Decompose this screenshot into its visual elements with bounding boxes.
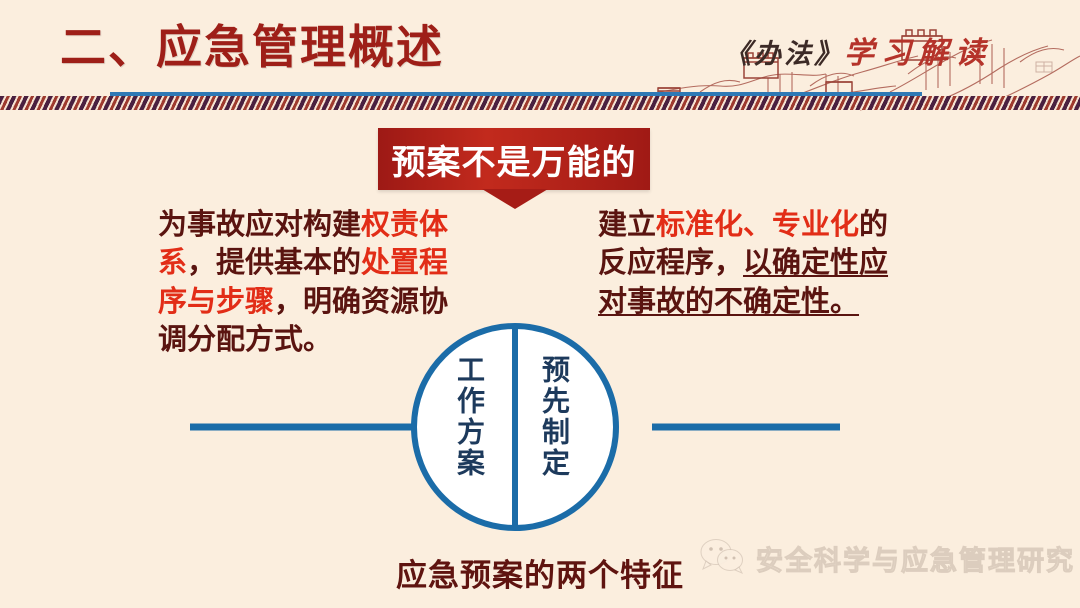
slide-canvas: 二、应急管理概述 bbox=[0, 0, 1080, 608]
page-title: 二、应急管理概述 bbox=[60, 22, 444, 73]
header-calligraphy: 《办法》学习解读 bbox=[724, 28, 992, 72]
watermark: 安全科学与应急管理研究 bbox=[700, 538, 1075, 579]
text-segment: ，提供基本的 bbox=[187, 247, 361, 279]
headline-banner: 预案不是万能的 bbox=[378, 128, 650, 190]
wechat-icon bbox=[700, 538, 744, 579]
watermark-text: 安全科学与应急管理研究 bbox=[756, 539, 1075, 578]
diagram-left-label: 工作方案 bbox=[455, 355, 483, 479]
header-calligraphy-prefix: 《办法》 bbox=[724, 39, 844, 69]
header-hatched-divider bbox=[0, 96, 1080, 110]
text-segment: 为事故应对构建 bbox=[158, 209, 361, 241]
text-segment: 建立 bbox=[598, 209, 656, 241]
headline-banner-text: 预案不是万能的 bbox=[378, 128, 650, 190]
right-paragraph: 建立标准化、专业化的反应程序，以确定性应对事故的不确定性。 bbox=[598, 206, 898, 321]
text-segment: 标准化、专业化 bbox=[656, 209, 859, 241]
headline-banner-pointer bbox=[482, 189, 548, 209]
diagram-right-label: 预先制定 bbox=[540, 355, 568, 479]
header-calligraphy-main: 学习解读 bbox=[844, 37, 992, 70]
